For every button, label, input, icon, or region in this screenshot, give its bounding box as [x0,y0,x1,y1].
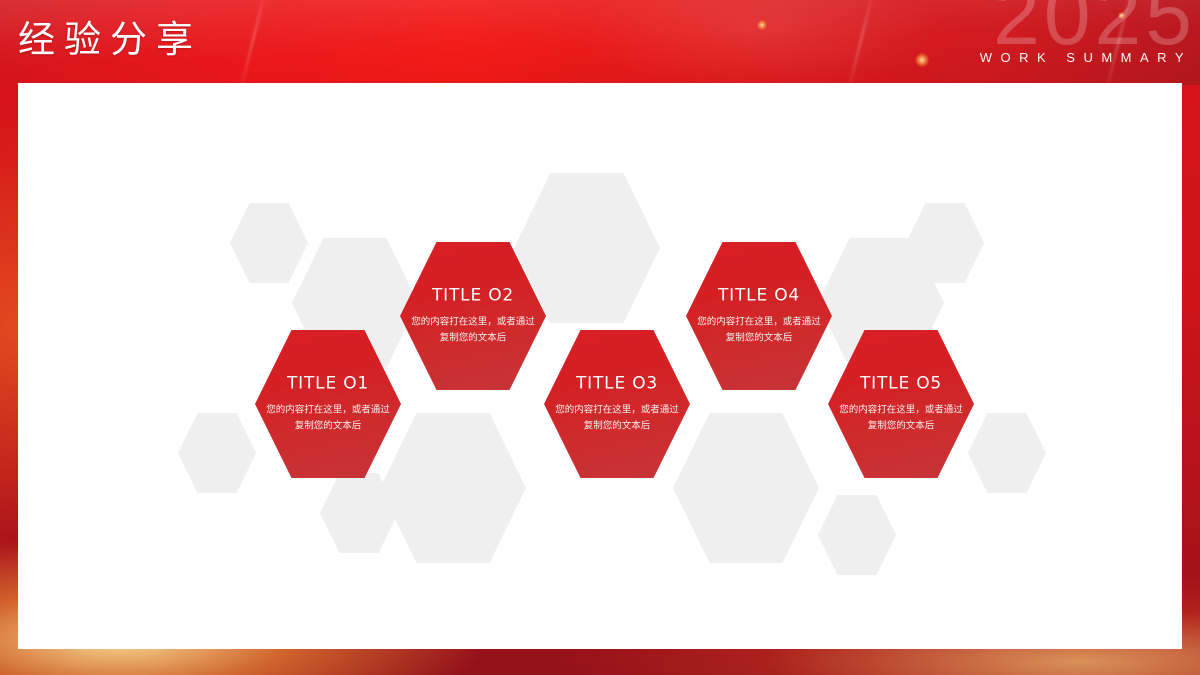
hexagon-card-description: 您的内容打在这里，或者通过复制您的文本后 [265,403,391,435]
hexagon-card-body: TITLE O1您的内容打在这里，或者通过复制您的文本后 [255,374,401,435]
hexagon-card-title: TITLE O4 [696,286,822,306]
hexagon-card-body: TITLE O4您的内容打在这里，或者通过复制您的文本后 [686,286,832,347]
hexagon-card-description: 您的内容打在这里，或者通过复制您的文本后 [554,403,680,435]
slide-root: 2025 经验分享 WORK SUMMARY TITLE O1您的内容打在这里，… [0,0,1200,675]
hexagon-card-body: TITLE O3您的内容打在这里，或者通过复制您的文本后 [544,374,690,435]
page-title: 经验分享 [18,20,202,60]
hexagon-card-title: TITLE O2 [410,286,536,306]
header-light-streak [846,0,877,85]
hexagon-card-title: TITLE O1 [265,374,391,394]
hexagon-card-title: TITLE O3 [554,374,680,394]
decorative-hexagon [818,495,896,575]
decorative-hexagon [230,203,308,283]
hexagon-card-body: TITLE O2您的内容打在这里，或者通过复制您的文本后 [400,286,546,347]
hexagon-card-description: 您的内容打在这里，或者通过复制您的文本后 [696,315,822,347]
header-light-streak [238,0,269,85]
slide-header: 2025 经验分享 WORK SUMMARY [0,0,1200,85]
spark-particle-icon [1118,12,1125,19]
spark-particle-icon [915,53,929,67]
content-canvas: TITLE O1您的内容打在这里，或者通过复制您的文本后TITLE O2您的内容… [18,83,1182,649]
decorative-hexagon [968,413,1046,493]
decorative-hexagon [673,413,819,563]
hexagon-card-03[interactable]: TITLE O3您的内容打在这里，或者通过复制您的文本后 [544,330,690,478]
hexagon-card-04[interactable]: TITLE O4您的内容打在这里，或者通过复制您的文本后 [686,242,832,390]
spark-particle-icon [757,20,767,30]
decorative-hexagon [380,413,526,563]
decorative-hexagon [178,413,256,493]
hexagon-card-title: TITLE O5 [838,374,964,394]
hexagon-card-description: 您的内容打在这里，或者通过复制您的文本后 [838,403,964,435]
hexagon-card-body: TITLE O5您的内容打在这里，或者通过复制您的文本后 [828,374,974,435]
year-watermark: 2025 [993,0,1196,57]
hexagon-card-description: 您的内容打在这里，或者通过复制您的文本后 [410,315,536,347]
header-subtitle: WORK SUMMARY [980,50,1192,65]
